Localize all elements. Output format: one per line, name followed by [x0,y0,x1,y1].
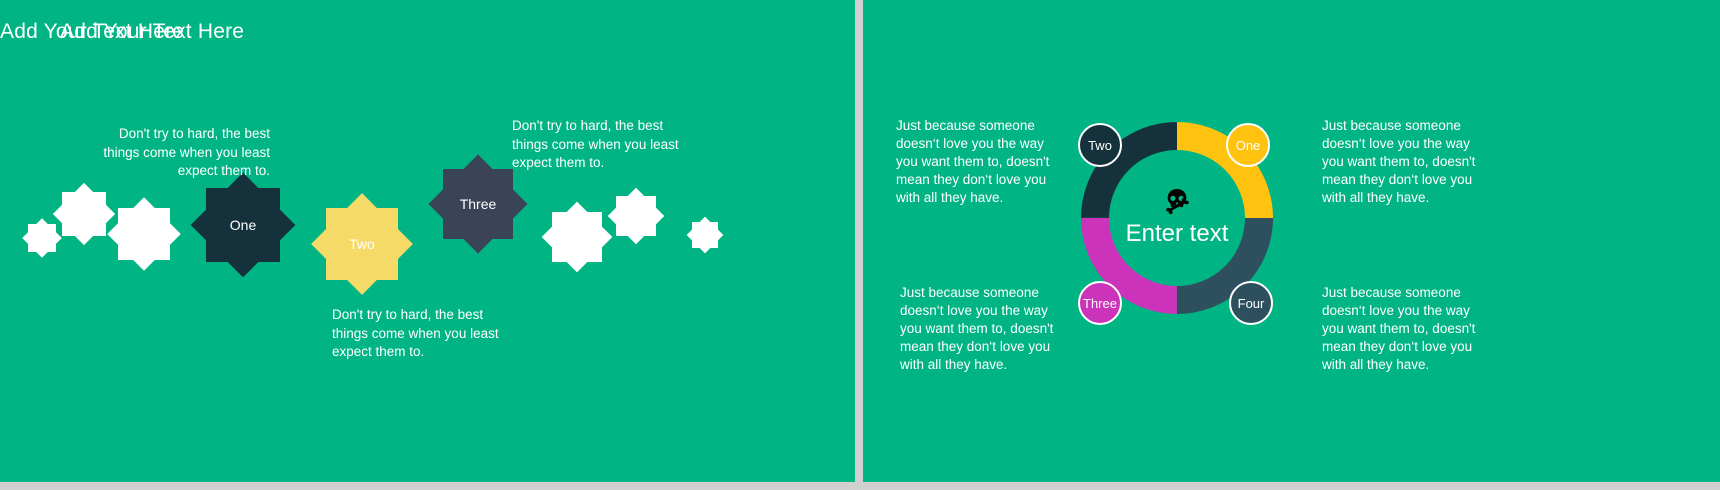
skull-and-crossbones-icon [1164,188,1190,216]
donut-badge-three[interactable]: Three [1078,281,1122,325]
text-block-two: Don't try to hard, the best things come … [332,306,504,362]
donut-badge-four[interactable]: Four [1229,281,1273,325]
decorative-star-icon [552,212,602,262]
donut-badge-one-label: One [1236,138,1261,153]
star-label-one: One [206,188,280,262]
slide-right [863,0,1720,482]
decorative-star-icon [62,192,106,236]
decorative-star-icon [28,224,56,252]
text-block-three: Don't try to hard, the best things come … [512,117,684,173]
star-step-one[interactable]: One [206,188,280,262]
donut-badge-four-label: Four [1238,296,1265,311]
donut-badge-one[interactable]: One [1226,123,1270,167]
slide-left: Add Your Text Here One Two [0,0,855,482]
star-label-two: Two [326,208,398,280]
donut-badge-three-label: Three [1083,296,1117,311]
slide-divider [855,0,863,482]
star-label-three: Three [443,169,513,239]
donut-center-text: Enter text [1126,220,1229,248]
decorative-star-icon [692,222,718,248]
star-step-three[interactable]: Three [443,169,513,239]
star-step-two[interactable]: Two [326,208,398,280]
donut-badge-two-label: Two [1088,138,1112,153]
decorative-star-icon [616,196,656,236]
donut-badge-two[interactable]: Two [1078,123,1122,167]
slide-deck: Add Your Text Here One Two [0,0,1720,490]
text-block-one: Don't try to hard, the best things come … [98,125,270,181]
decorative-star-icon [118,208,170,260]
page-title-right: Add Your Text Here [0,20,184,44]
